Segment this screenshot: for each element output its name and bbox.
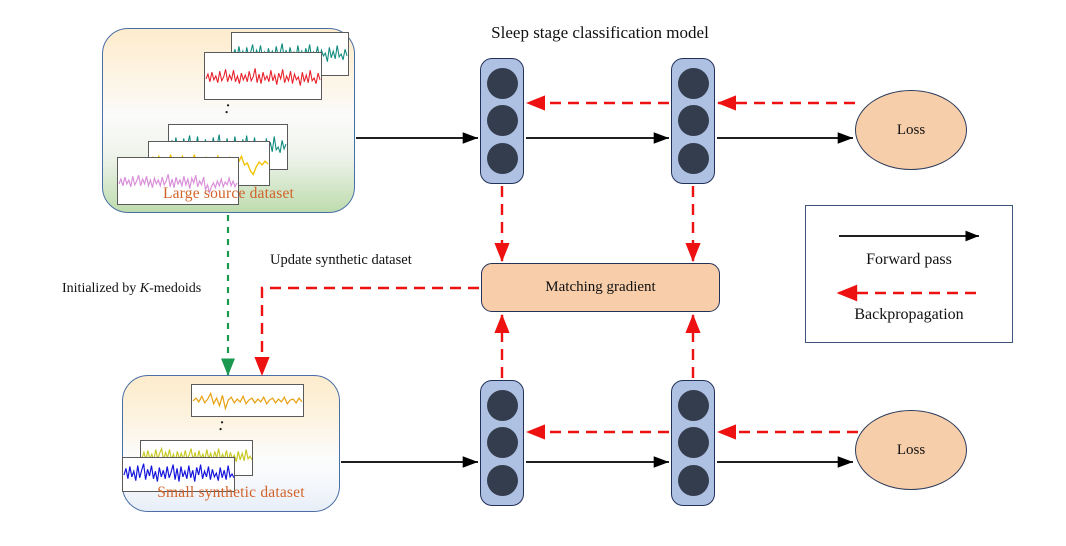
source-waveform-card-2 xyxy=(204,52,322,100)
bottom-loss-node[interactable]: Loss xyxy=(855,410,967,490)
neuron xyxy=(678,143,709,174)
neuron xyxy=(678,105,709,136)
init-label-pre: Initialized by xyxy=(62,281,140,296)
initialized-by-kmedoids-label: Initialized by K-medoids xyxy=(62,281,201,297)
bottom-network-block-2[interactable] xyxy=(671,380,715,506)
neuron xyxy=(678,68,709,99)
source-dataset-ellipsis: : xyxy=(225,105,231,111)
neuron xyxy=(678,465,709,496)
update-synthetic-dataset-arrow xyxy=(262,288,479,375)
legend-box: Forward pass Backpropagation xyxy=(805,205,1013,343)
legend-forward-pass-label: Forward pass xyxy=(806,251,1012,269)
top-network-block-1[interactable] xyxy=(480,58,524,184)
top-network-block-2[interactable] xyxy=(671,58,715,184)
neuron xyxy=(678,427,709,458)
neuron xyxy=(487,143,518,174)
legend-backpropagation-label: Backpropagation xyxy=(806,306,1012,324)
neuron xyxy=(678,390,709,421)
neuron xyxy=(487,465,518,496)
init-label-italic-k: K xyxy=(140,281,149,296)
update-synthetic-dataset-label: Update synthetic dataset xyxy=(270,252,412,269)
top-loss-node[interactable]: Loss xyxy=(855,90,967,170)
large-source-dataset-box[interactable]: : Large source dataset xyxy=(102,28,355,213)
small-synthetic-dataset-box[interactable]: : Small synthetic dataset xyxy=(122,375,340,512)
neuron xyxy=(487,68,518,99)
synthetic-waveform-card-1 xyxy=(191,384,304,417)
init-label-post: -medoids xyxy=(149,281,201,296)
neuron xyxy=(487,105,518,136)
source-dataset-caption: Large source dataset xyxy=(103,185,354,203)
diagram-canvas: Sleep stage classification model : xyxy=(0,0,1066,546)
page-title: Sleep stage classification model xyxy=(440,23,760,43)
matching-gradient-box[interactable]: Matching gradient xyxy=(481,263,720,312)
neuron xyxy=(487,427,518,458)
synthetic-dataset-ellipsis: : xyxy=(219,422,225,428)
neuron xyxy=(487,390,518,421)
synthetic-dataset-caption: Small synthetic dataset xyxy=(123,484,339,502)
bottom-network-block-1[interactable] xyxy=(480,380,524,506)
